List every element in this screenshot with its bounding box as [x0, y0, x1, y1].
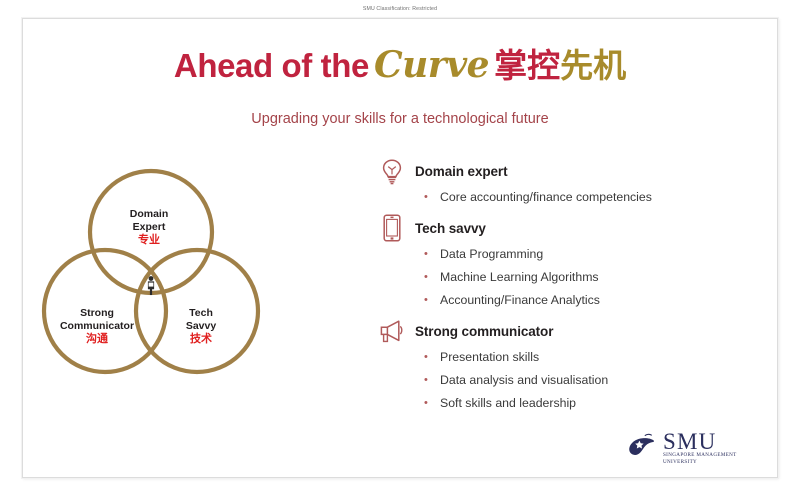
bullet-text: Machine Learning Algorithms	[440, 266, 599, 289]
title-part-chinese-red: 掌控	[494, 46, 560, 85]
skill-group-header: Tech savvy	[378, 213, 768, 243]
skill-group-title: Tech savvy	[415, 221, 486, 236]
bullet-icon: •	[424, 243, 440, 266]
skill-group-domain-expert: Domain expert • Core accounting/finance …	[378, 156, 768, 209]
venn-label-strong-communicator: Strong Communicator 沟通	[37, 307, 157, 346]
skill-bullet-list: • Core accounting/finance competencies	[378, 186, 768, 209]
bullet-icon: •	[424, 392, 440, 415]
venn-label-tech-line1: Tech	[189, 307, 213, 319]
venn-label-tech-savvy: Tech Savvy 技术	[141, 307, 261, 346]
bullet-text: Core accounting/finance competencies	[440, 186, 652, 209]
skill-group-header: Strong communicator	[378, 316, 768, 346]
venn-label-strong-line1: Strong	[80, 307, 114, 319]
title-part-english: Ahead of the	[174, 47, 369, 84]
lightbulb-icon	[378, 156, 406, 186]
skill-group-tech-savvy: Tech savvy • Data Programming • Machine …	[378, 213, 768, 312]
venn-label-domain-line1: Domain	[130, 208, 169, 220]
venn-label-tech-chinese: 技术	[141, 333, 261, 346]
singapore-island-icon	[627, 431, 657, 465]
venn-label-strong-chinese: 沟通	[37, 333, 157, 346]
bullet-text: Presentation skills	[440, 346, 539, 369]
skill-bullet-list: • Presentation skills • Data analysis an…	[378, 346, 768, 415]
slide-canvas: Ahead of theCurve掌控先机 Upgrading your ski…	[22, 18, 778, 478]
skill-group-header: Domain expert	[378, 156, 768, 186]
smu-full-name: SINGAPORE MANAGEMENT UNIVERSITY	[663, 452, 749, 464]
list-item: • Soft skills and leadership	[378, 392, 768, 415]
venn-label-tech-line2: Savvy	[186, 320, 216, 332]
bullet-icon: •	[424, 369, 440, 392]
venn-label-domain-expert: Domain Expert 专业	[89, 208, 209, 247]
skill-group-title: Domain expert	[415, 164, 507, 179]
venn-circles	[31, 154, 271, 394]
venn-label-domain-chinese: 专业	[89, 234, 209, 247]
bullet-text: Accounting/Finance Analytics	[440, 289, 600, 312]
venn-label-strong-line2: Communicator	[60, 320, 134, 332]
smartphone-icon	[378, 213, 406, 243]
smu-logo-wordmark: SMU SINGAPORE MANAGEMENT UNIVERSITY	[663, 431, 749, 464]
bullet-text: Data analysis and visualisation	[440, 369, 608, 392]
page-title: Ahead of theCurve掌控先机	[23, 47, 777, 83]
smu-acronym: SMU	[663, 431, 749, 452]
page-subtitle: Upgrading your skills for a technologica…	[23, 111, 777, 127]
bullet-icon: •	[424, 289, 440, 312]
list-item: • Presentation skills	[378, 346, 768, 369]
skill-bullet-list: • Data Programming • Machine Learning Al…	[378, 243, 768, 312]
list-item: • Data Programming	[378, 243, 768, 266]
list-item: • Machine Learning Algorithms	[378, 266, 768, 289]
classification-text: SMU Classification: Restricted	[363, 6, 437, 12]
list-item: • Core accounting/finance competencies	[378, 186, 768, 209]
smu-logo: SMU SINGAPORE MANAGEMENT UNIVERSITY	[627, 431, 749, 465]
bullet-icon: •	[424, 186, 440, 209]
title-part-script: Curve	[374, 44, 489, 86]
bullet-icon: •	[424, 346, 440, 369]
list-item: • Data analysis and visualisation	[378, 369, 768, 392]
bullet-text: Data Programming	[440, 243, 543, 266]
bullet-text: Soft skills and leadership	[440, 392, 576, 415]
skill-group-strong-communicator: Strong communicator • Presentation skill…	[378, 316, 768, 415]
bullet-icon: •	[424, 266, 440, 289]
skill-group-title: Strong communicator	[415, 324, 553, 339]
skills-content-list: Domain expert • Core accounting/finance …	[378, 156, 768, 419]
megaphone-icon	[378, 316, 406, 346]
list-item: • Accounting/Finance Analytics	[378, 289, 768, 312]
venn-diagram: Domain Expert 专业 Strong Communicator 沟通 …	[31, 154, 271, 394]
classification-banner: SMU Classification: Restricted	[0, 0, 800, 18]
venn-label-domain-line2: Expert	[133, 221, 166, 233]
title-part-chinese-gold: 先机	[560, 46, 626, 85]
